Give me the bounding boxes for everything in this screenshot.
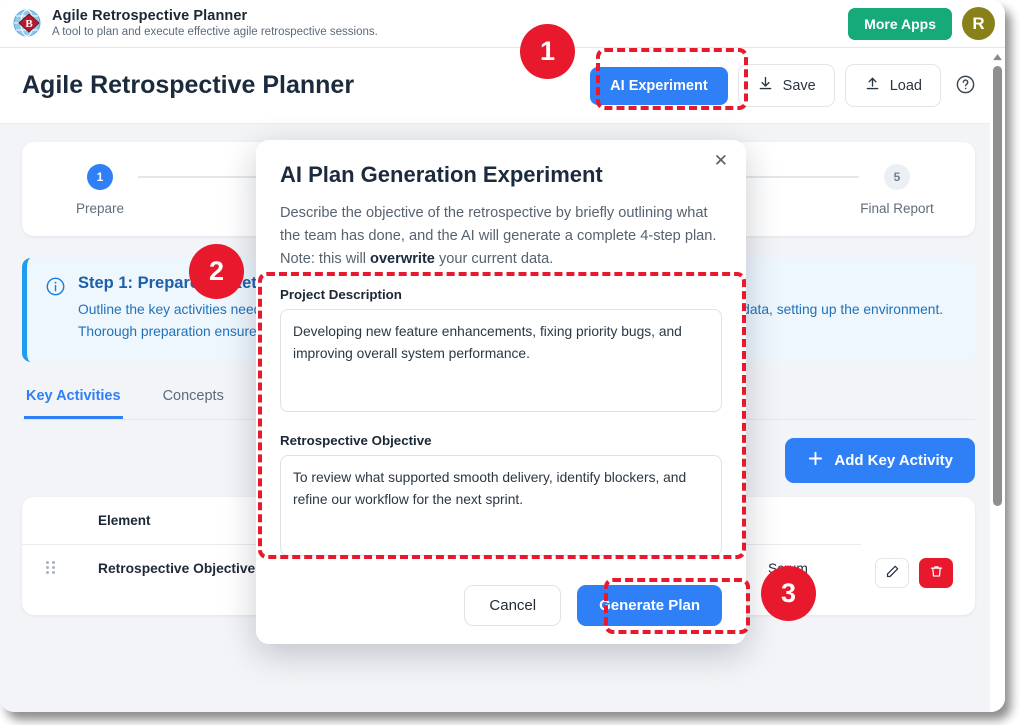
retrospective-objective-input[interactable]: [280, 455, 722, 556]
app-window: B Agile Retrospective Planner A tool to …: [0, 0, 1005, 712]
step-label: Prepare: [76, 201, 124, 216]
ai-plan-generation-modal: ✕ AI Plan Generation Experiment Describe…: [256, 140, 746, 644]
step-number-badge: 5: [884, 164, 910, 190]
step-number-badge: 1: [87, 164, 113, 190]
retrospective-objective-label: Retrospective Objective: [280, 433, 722, 448]
svg-text:B: B: [25, 18, 33, 30]
annotation-badge-1: 1: [520, 24, 575, 79]
download-icon: [757, 75, 774, 96]
load-button[interactable]: Load: [845, 64, 941, 107]
vertical-scrollbar[interactable]: [990, 48, 1005, 712]
page-title: Agile Retrospective Planner: [22, 71, 354, 100]
modal-title: AI Plan Generation Experiment: [280, 162, 722, 188]
pencil-icon: [885, 564, 900, 582]
modal-description: Describe the objective of the retrospect…: [280, 202, 722, 271]
more-apps-button[interactable]: More Apps: [848, 8, 952, 40]
trash-icon: [929, 564, 944, 582]
tab-key-activities[interactable]: Key Activities: [24, 382, 123, 419]
edit-row-button[interactable]: [875, 558, 909, 588]
add-key-activity-button[interactable]: Add Key Activity: [785, 438, 975, 483]
annotation-badge-2: 2: [189, 244, 244, 299]
stepper-step-prepare[interactable]: 1 Prepare: [62, 164, 138, 216]
annotation-badge-3: 3: [761, 566, 816, 621]
modal-description-bold: overwrite: [370, 251, 435, 267]
save-button[interactable]: Save: [738, 64, 835, 107]
info-icon: [45, 276, 66, 344]
upload-icon: [864, 75, 881, 96]
save-label: Save: [783, 78, 816, 94]
th-actions: [754, 497, 861, 545]
annotation-badge-1-label: 1: [540, 36, 555, 67]
th-drag: [22, 497, 84, 545]
scroll-up-arrow-icon[interactable]: [990, 50, 1005, 64]
app-subtitle: A tool to plan and execute effective agi…: [52, 26, 378, 39]
stepper-step-final-report[interactable]: 5 Final Report: [859, 164, 935, 216]
app-title: Agile Retrospective Planner: [52, 8, 378, 25]
app-header-bar: B Agile Retrospective Planner A tool to …: [0, 0, 1005, 48]
generate-plan-button[interactable]: Generate Plan: [577, 585, 722, 626]
plus-icon: [807, 450, 824, 471]
page-toolbar: Agile Retrospective Planner AI Experimen…: [0, 48, 1005, 124]
brand-text: Agile Retrospective Planner A tool to pl…: [52, 8, 378, 39]
app-logo-icon: B: [12, 8, 42, 38]
row-actions: [875, 558, 961, 588]
annotation-badge-3-label: 3: [781, 578, 796, 609]
screen-root: B Agile Retrospective Planner A tool to …: [0, 0, 1020, 725]
ai-experiment-button[interactable]: AI Experiment: [590, 67, 728, 105]
avatar[interactable]: R: [962, 7, 995, 40]
modal-description-post: your current data.: [435, 251, 553, 267]
project-description-label: Project Description: [280, 287, 722, 302]
step-label: Final Report: [860, 201, 934, 216]
modal-footer: Cancel Generate Plan: [280, 579, 722, 626]
annotation-badge-2-label: 2: [209, 256, 224, 287]
scrollbar-thumb[interactable]: [993, 66, 1002, 506]
toolbar-actions: AI Experiment Save Load: [590, 64, 979, 107]
project-description-input[interactable]: [280, 309, 722, 412]
tab-concepts[interactable]: Concepts: [161, 382, 226, 419]
help-button[interactable]: [951, 72, 979, 100]
add-key-activity-label: Add Key Activity: [834, 452, 953, 469]
app-header-actions: More Apps R: [848, 7, 995, 40]
help-circle-icon: [955, 74, 976, 98]
brand: B Agile Retrospective Planner A tool to …: [12, 8, 378, 39]
cancel-button[interactable]: Cancel: [464, 585, 561, 626]
drag-handle-icon[interactable]: [22, 544, 84, 614]
load-label: Load: [890, 78, 922, 94]
close-icon[interactable]: ✕: [714, 152, 728, 169]
cell-actions: [861, 544, 975, 614]
delete-row-button[interactable]: [919, 558, 953, 588]
